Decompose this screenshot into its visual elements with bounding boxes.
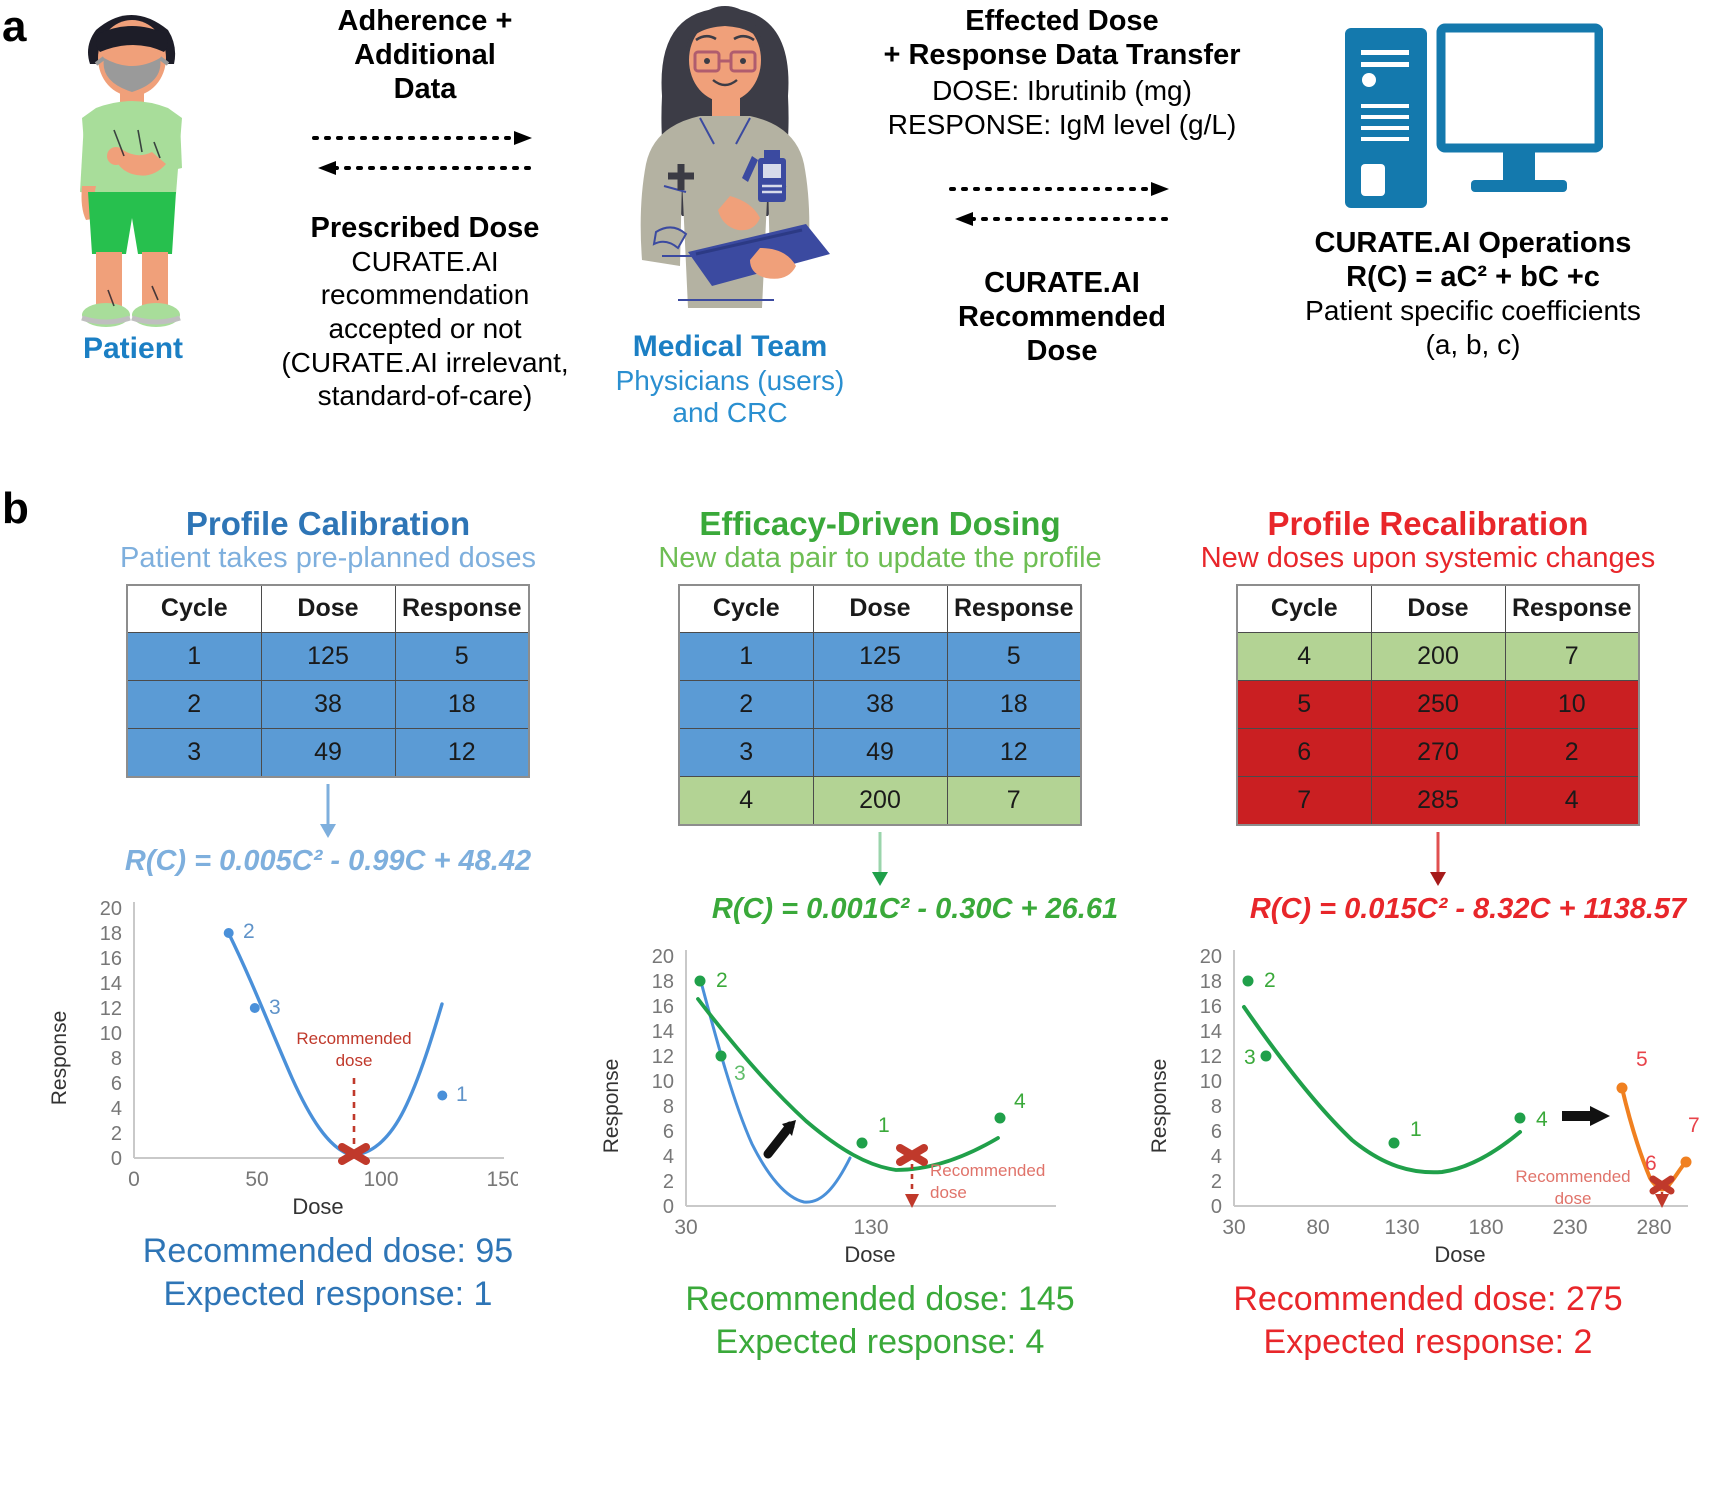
svg-text:3: 3: [734, 1062, 746, 1085]
svg-text:50: 50: [245, 1168, 268, 1191]
data-point-1: [437, 1091, 447, 1101]
svg-text:6: 6: [1645, 1152, 1657, 1175]
svg-text:6: 6: [663, 1121, 674, 1143]
data-point-2: [1243, 976, 1254, 987]
data-point-7: [1681, 1157, 1692, 1168]
table-header-row: Cycle Dose Response: [127, 585, 529, 633]
patient-label: Patient: [18, 332, 248, 367]
svg-text:10: 10: [100, 1023, 122, 1045]
table-profile-recalibration: Cycle Dose Response 4 200 7 5 250 10 6: [1236, 584, 1640, 826]
table-row: 4 200 7: [679, 777, 1081, 825]
header-response: Response: [947, 585, 1081, 633]
svg-text:18: 18: [100, 923, 122, 945]
svg-text:8: 8: [1211, 1096, 1222, 1118]
dotted-arrow-left-icon: [947, 210, 1177, 228]
table-profile-calibration: Cycle Dose Response 1 125 5 2 38 18 3: [126, 584, 530, 778]
svg-text:2: 2: [716, 969, 728, 992]
svg-text:6: 6: [111, 1073, 122, 1095]
svg-text:80: 80: [1306, 1216, 1329, 1239]
svg-text:2: 2: [243, 920, 255, 943]
cell-response: 18: [395, 681, 529, 729]
curate-ai-operations-title: CURATE.AI Operations: [1238, 226, 1708, 260]
flow-patient-team-title: Adherence + Additional Data: [250, 4, 600, 107]
svg-text:16: 16: [100, 948, 122, 970]
panel-b: b Profile Calibration Patient takes pre-…: [0, 480, 1734, 1492]
svg-text:20: 20: [652, 946, 674, 968]
recommended-dose-marker: [1653, 1179, 1671, 1191]
column-1-title: Profile Calibration: [48, 506, 608, 542]
medical-team-label: Medical Team: [585, 330, 875, 365]
cell-cycle: 1: [679, 633, 813, 681]
medical-team-sub-2: and CRC: [585, 397, 875, 429]
svg-text:4: 4: [1536, 1108, 1548, 1131]
cell-cycle: 2: [679, 681, 813, 729]
column-2-header: Efficacy-Driven Dosing New data pair to …: [600, 480, 1160, 576]
data-point-1: [857, 1138, 868, 1149]
svg-text:2: 2: [1211, 1171, 1222, 1193]
svg-text:0: 0: [111, 1148, 122, 1170]
shift-arrow-icon: [768, 1120, 796, 1154]
svg-text:14: 14: [1200, 1021, 1222, 1043]
svg-text:18: 18: [652, 971, 674, 993]
flow-team-ai: Effected Dose + Response Data Transfer D…: [872, 4, 1252, 368]
down-arrow-icon: [865, 832, 895, 888]
summary-efficacy-driven-dosing: Recommended dose: 145 Expected response:…: [600, 1278, 1160, 1363]
cell-dose: 200: [1371, 633, 1505, 681]
formula-profile-recalibration: R(C) = 0.015C² - 8.32C + 1138.57: [1148, 892, 1728, 927]
recommended-dose-label: Recommended: [1515, 1167, 1630, 1186]
table-row: 4 200 7: [1237, 633, 1639, 681]
patient-figure: [18, 0, 248, 330]
recommended-dose-label: Recommended: [930, 1161, 1045, 1180]
down-arrow-icon: [313, 784, 343, 840]
svg-text:Dose: Dose: [292, 1194, 343, 1218]
table-row: 2 38 18: [679, 681, 1081, 729]
svg-text:4: 4: [1014, 1090, 1026, 1113]
svg-text:8: 8: [663, 1096, 674, 1118]
svg-text:230: 230: [1552, 1216, 1587, 1239]
svg-text:Response: Response: [600, 1059, 623, 1154]
cell-dose: 49: [813, 729, 947, 777]
table-row: 6 270 2: [1237, 729, 1639, 777]
flow-patient-team: Adherence + Additional Data Prescribed D…: [250, 4, 600, 413]
svg-text:1: 1: [1410, 1118, 1422, 1141]
svg-text:3: 3: [1244, 1046, 1256, 1069]
curate-ai-formula: R(C) = aC² + bC +c: [1238, 260, 1708, 294]
cell-response: 12: [947, 729, 1081, 777]
summary-profile-recalibration: Recommended dose: 275 Expected response:…: [1148, 1278, 1708, 1363]
svg-text:16: 16: [1200, 996, 1222, 1018]
svg-text:12: 12: [100, 998, 122, 1020]
cell-response: 2: [1505, 729, 1639, 777]
svg-text:30: 30: [1222, 1216, 1245, 1239]
cell-dose: 270: [1371, 729, 1505, 777]
prescribed-dose-detail: CURATE.AI recommendation accepted or not…: [250, 245, 600, 413]
svg-text:5: 5: [1636, 1048, 1648, 1071]
physician-illustration: [600, 0, 850, 330]
svg-text:Dose: Dose: [844, 1242, 895, 1266]
chart-profile-calibration: Response 201816 141210 864 20 2 3: [48, 888, 608, 1218]
curate-ai-system: CURATE.AI Operations R(C) = aC² + bC +c …: [1238, 22, 1708, 362]
column-profile-recalibration: Profile Recalibration New doses upon sys…: [1148, 480, 1728, 1363]
header-response: Response: [1505, 585, 1639, 633]
flow-team-ai-title: Effected Dose + Response Data Transfer: [872, 4, 1252, 72]
column-3-header: Profile Recalibration New doses upon sys…: [1148, 480, 1708, 576]
svg-text:2: 2: [1264, 969, 1276, 992]
cell-dose: 125: [813, 633, 947, 681]
cell-response: 5: [947, 633, 1081, 681]
data-point-4: [995, 1113, 1006, 1124]
dotted-arrow-right-icon: [310, 129, 540, 147]
svg-text:130: 130: [1384, 1216, 1419, 1239]
svg-text:100: 100: [363, 1168, 398, 1191]
flow-team-ai-detail: DOSE: Ibrutinib (mg) RESPONSE: IgM level…: [872, 74, 1252, 141]
cell-response: 18: [947, 681, 1081, 729]
cell-response: 12: [395, 729, 529, 777]
column-1-subtitle: Patient takes pre-planned doses: [48, 542, 608, 575]
svg-text:3: 3: [269, 996, 281, 1019]
svg-text:10: 10: [1200, 1071, 1222, 1093]
svg-text:dose: dose: [336, 1051, 373, 1070]
cell-cycle: 1: [127, 633, 261, 681]
curate-ai-coefficients: Patient specific coefficients (a, b, c): [1238, 294, 1708, 361]
svg-text:7: 7: [1688, 1114, 1700, 1137]
svg-text:30: 30: [674, 1216, 697, 1239]
data-point-5: [1617, 1083, 1628, 1094]
recommended-dose-label: Recommended: [296, 1029, 411, 1048]
svg-text:150: 150: [486, 1168, 518, 1191]
chart-efficacy-driven-dosing: Response 201816 141210 864 20 2 3: [600, 936, 1160, 1266]
column-3-subtitle: New doses upon systemic changes: [1148, 542, 1708, 575]
svg-text:Response: Response: [1148, 1059, 1171, 1154]
data-point-1: [1389, 1138, 1400, 1149]
column-2-title: Efficacy-Driven Dosing: [600, 506, 1160, 542]
medical-team-figure: [600, 0, 850, 330]
header-dose: Dose: [1371, 585, 1505, 633]
svg-text:6: 6: [1211, 1121, 1222, 1143]
table-row: 7 285 4: [1237, 777, 1639, 825]
cell-cycle: 7: [1237, 777, 1371, 825]
svg-text:20: 20: [1200, 946, 1222, 968]
cell-cycle: 6: [1237, 729, 1371, 777]
prescribed-dose-title: Prescribed Dose: [250, 211, 600, 245]
svg-text:4: 4: [663, 1146, 674, 1168]
summary-profile-calibration: Recommended dose: 95 Expected response: …: [48, 1230, 608, 1315]
svg-text:12: 12: [652, 1046, 674, 1068]
column-3-title: Profile Recalibration: [1148, 506, 1708, 542]
header-cycle: Cycle: [1237, 585, 1371, 633]
header-cycle: Cycle: [679, 585, 813, 633]
medical-team-caption: Medical Team Physicians (users) and CRC: [585, 330, 875, 429]
table-row: 2 38 18: [127, 681, 529, 729]
column-1-header: Profile Calibration Patient takes pre-pl…: [48, 480, 608, 576]
summary-1-dose: Recommended dose: 95: [48, 1230, 608, 1273]
svg-text:16: 16: [652, 996, 674, 1018]
svg-text:Response: Response: [48, 1011, 71, 1106]
svg-text:12: 12: [1200, 1046, 1222, 1068]
shift-arrow-icon: [1562, 1106, 1610, 1126]
svg-text:280: 280: [1636, 1216, 1671, 1239]
header-dose: Dose: [813, 585, 947, 633]
svg-text:4: 4: [111, 1098, 122, 1120]
cell-cycle: 4: [679, 777, 813, 825]
table-row: 5 250 10: [1237, 681, 1639, 729]
data-point-3: [716, 1051, 727, 1062]
table-header-row: Cycle Dose Response: [679, 585, 1081, 633]
summary-1-response: Expected response: 1: [48, 1273, 608, 1316]
summary-2-dose: Recommended dose: 145: [600, 1278, 1160, 1321]
summary-3-dose: Recommended dose: 275: [1148, 1278, 1708, 1321]
svg-text:20: 20: [100, 898, 122, 920]
dotted-arrow-right-icon: [947, 180, 1177, 198]
table-row: 1 125 5: [127, 633, 529, 681]
svg-text:Dose: Dose: [1434, 1242, 1485, 1266]
svg-text:dose: dose: [930, 1183, 967, 1202]
cell-dose: 200: [813, 777, 947, 825]
patient-illustration: [18, 0, 248, 330]
desktop-computer-icon: [1343, 22, 1603, 212]
cell-cycle: 3: [679, 729, 813, 777]
patient-caption: Patient: [18, 332, 248, 367]
svg-text:8: 8: [111, 1048, 122, 1070]
chart-profile-recalibration: Response 201816 141210 864 20 2 3 1 4: [1148, 936, 1728, 1266]
cell-dose: 38: [813, 681, 947, 729]
column-efficacy-driven-dosing: Efficacy-Driven Dosing New data pair to …: [600, 480, 1160, 1363]
table-row: 1 125 5: [679, 633, 1081, 681]
medical-team-sub-1: Physicians (users): [585, 365, 875, 397]
svg-text:4: 4: [1211, 1146, 1222, 1168]
svg-text:dose: dose: [1555, 1189, 1592, 1208]
table-row: 3 49 12: [679, 729, 1081, 777]
svg-text:0: 0: [663, 1196, 674, 1218]
svg-text:130: 130: [853, 1216, 888, 1239]
table-efficacy-driven-dosing: Cycle Dose Response 1 125 5 2 38 18 3: [678, 584, 1082, 826]
data-point-4: [1515, 1113, 1526, 1124]
formula-profile-calibration: R(C) = 0.005C² - 0.99C + 48.42: [48, 844, 608, 879]
svg-text:2: 2: [663, 1171, 674, 1193]
svg-text:1: 1: [456, 1083, 468, 1106]
svg-text:1: 1: [878, 1114, 890, 1137]
formula-efficacy-driven-dosing: R(C) = 0.001C² - 0.30C + 26.61: [600, 892, 1160, 927]
recommended-dose-marker: [900, 1148, 924, 1162]
svg-text:2: 2: [111, 1123, 122, 1145]
column-2-subtitle: New data pair to update the profile: [600, 542, 1160, 575]
cell-cycle: 3: [127, 729, 261, 777]
cell-dose: 250: [1371, 681, 1505, 729]
cell-dose: 49: [261, 729, 395, 777]
header-response: Response: [395, 585, 529, 633]
svg-text:0: 0: [1211, 1196, 1222, 1218]
cell-dose: 125: [261, 633, 395, 681]
svg-text:0: 0: [128, 1168, 140, 1191]
dotted-arrow-left-icon: [310, 159, 540, 177]
curate-recommended-dose-label: CURATE.AI Recommended Dose: [872, 266, 1252, 369]
svg-text:14: 14: [100, 973, 122, 995]
svg-text:18: 18: [1200, 971, 1222, 993]
cell-response: 10: [1505, 681, 1639, 729]
table-header-row: Cycle Dose Response: [1237, 585, 1639, 633]
cell-cycle: 4: [1237, 633, 1371, 681]
panel-b-letter: b: [2, 484, 29, 534]
column-profile-calibration: Profile Calibration Patient takes pre-pl…: [48, 480, 608, 1315]
svg-text:10: 10: [652, 1071, 674, 1093]
cell-cycle: 2: [127, 681, 261, 729]
data-point-2: [695, 976, 706, 987]
summary-2-response: Expected response: 4: [600, 1321, 1160, 1364]
data-point-2: [224, 928, 234, 938]
summary-3-response: Expected response: 2: [1148, 1321, 1708, 1364]
cell-dose: 38: [261, 681, 395, 729]
down-arrow-icon: [1423, 832, 1453, 888]
svg-text:14: 14: [652, 1021, 674, 1043]
table-row: 3 49 12: [127, 729, 529, 777]
panel-a: a: [0, 0, 1734, 480]
header-cycle: Cycle: [127, 585, 261, 633]
data-point-3: [1261, 1051, 1272, 1062]
cell-cycle: 5: [1237, 681, 1371, 729]
cell-dose: 285: [1371, 777, 1505, 825]
data-point-3: [250, 1003, 260, 1013]
header-dose: Dose: [261, 585, 395, 633]
cell-response: 7: [947, 777, 1081, 825]
cell-response: 4: [1505, 777, 1639, 825]
svg-text:180: 180: [1468, 1216, 1503, 1239]
cell-response: 7: [1505, 633, 1639, 681]
cell-response: 5: [395, 633, 529, 681]
